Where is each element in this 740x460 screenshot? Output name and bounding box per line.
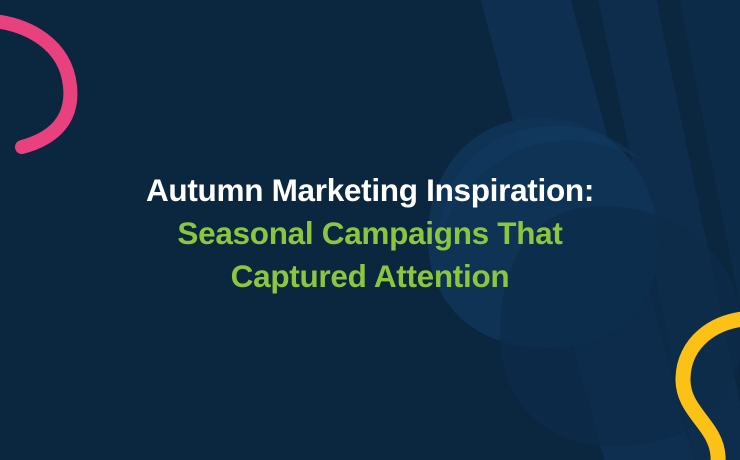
headline-inner: Autumn Marketing Inspiration: Seasonal C… — [50, 169, 690, 298]
headline-line-2: Seasonal Campaigns That — [50, 212, 690, 255]
blog-header-banner: Autumn Marketing Inspiration: Seasonal C… — [0, 0, 740, 460]
headline-line-3: Captured Attention — [50, 255, 690, 298]
headline-block: Autumn Marketing Inspiration: Seasonal C… — [0, 0, 740, 460]
headline-line-1: Autumn Marketing Inspiration: — [50, 169, 690, 212]
